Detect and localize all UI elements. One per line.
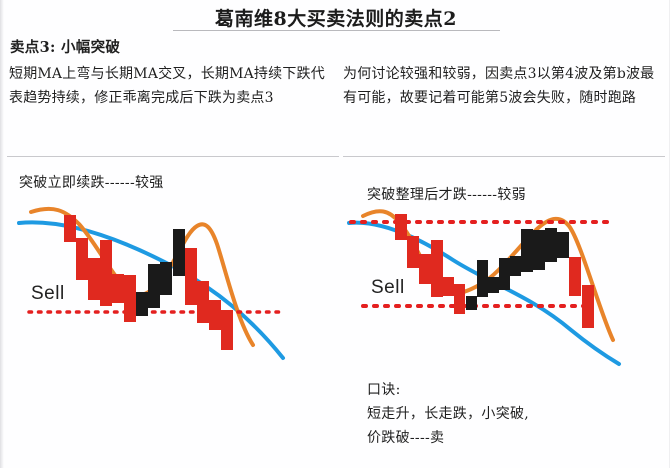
candle-bullish [148, 264, 160, 308]
sell-label-left: Sell [31, 283, 65, 305]
page-subtitle: 卖点3: 小幅突破 [10, 36, 120, 57]
mnemonic-line-2: 价跌破----卖 [367, 426, 667, 450]
candle-bullish [173, 229, 185, 276]
candle-bullish [510, 256, 521, 276]
candle-bearish [431, 240, 443, 297]
candle-bullish [160, 262, 172, 295]
candle-bullish [136, 292, 148, 316]
chart-caption-left: 突破立即续跌------较强 [19, 172, 164, 192]
candle-bearish [407, 236, 419, 268]
candle-bearish [209, 300, 221, 330]
candles-right [395, 214, 594, 328]
description-left: 短期MA上弯与长期MA交叉，长期MA持续下跌代表趋势持续，修正乖离完成后下跌为卖… [9, 62, 339, 110]
mnemonic-heading: 口诀: [367, 378, 667, 402]
candle-bullish [466, 296, 477, 310]
candle-bearish [64, 215, 76, 242]
candle-bearish [124, 275, 136, 322]
slide-page: 葛南维8大买卖法则的卖点2 卖点3: 小幅突破 短期MA上弯与长期MA交叉，长期… [0, 0, 670, 468]
candle-bearish [221, 310, 233, 350]
candle-bearish [443, 277, 454, 296]
candle-bullish [557, 232, 569, 258]
candle-bearish [454, 284, 465, 314]
candle-bearish [100, 240, 112, 306]
candle-bullish [488, 277, 499, 293]
description-right: 为何讨论较强和较弱，因卖点3以第4波及第b波最有可能，故要记着可能第5波会失败，… [343, 62, 665, 110]
page-title: 葛南维8大买卖法则的卖点2 [1, 4, 670, 31]
mnemonic-block: 口诀: 短走升，长走跌，小突破, 价跌破----卖 [367, 378, 667, 450]
candle-bearish [395, 214, 407, 240]
candle-bullish [533, 230, 545, 270]
candle-bullish [545, 228, 557, 262]
candle-bullish [477, 260, 488, 297]
candle-bearish [185, 248, 197, 305]
candle-bearish [76, 238, 88, 280]
candle-bearish [569, 257, 581, 296]
candle-bullish [521, 229, 533, 272]
candle-bearish [582, 285, 594, 328]
candle-bearish [197, 281, 209, 323]
sell-label-right: Sell [371, 277, 405, 299]
candle-bearish [88, 258, 100, 300]
divider-left [7, 156, 339, 157]
candle-bearish [112, 274, 124, 303]
mnemonic-line-1: 短走升，长走跌，小突破, [367, 402, 667, 426]
candle-bullish [499, 258, 510, 290]
title-underline [173, 30, 500, 31]
candle-bearish [419, 254, 431, 284]
divider-right [343, 156, 665, 157]
